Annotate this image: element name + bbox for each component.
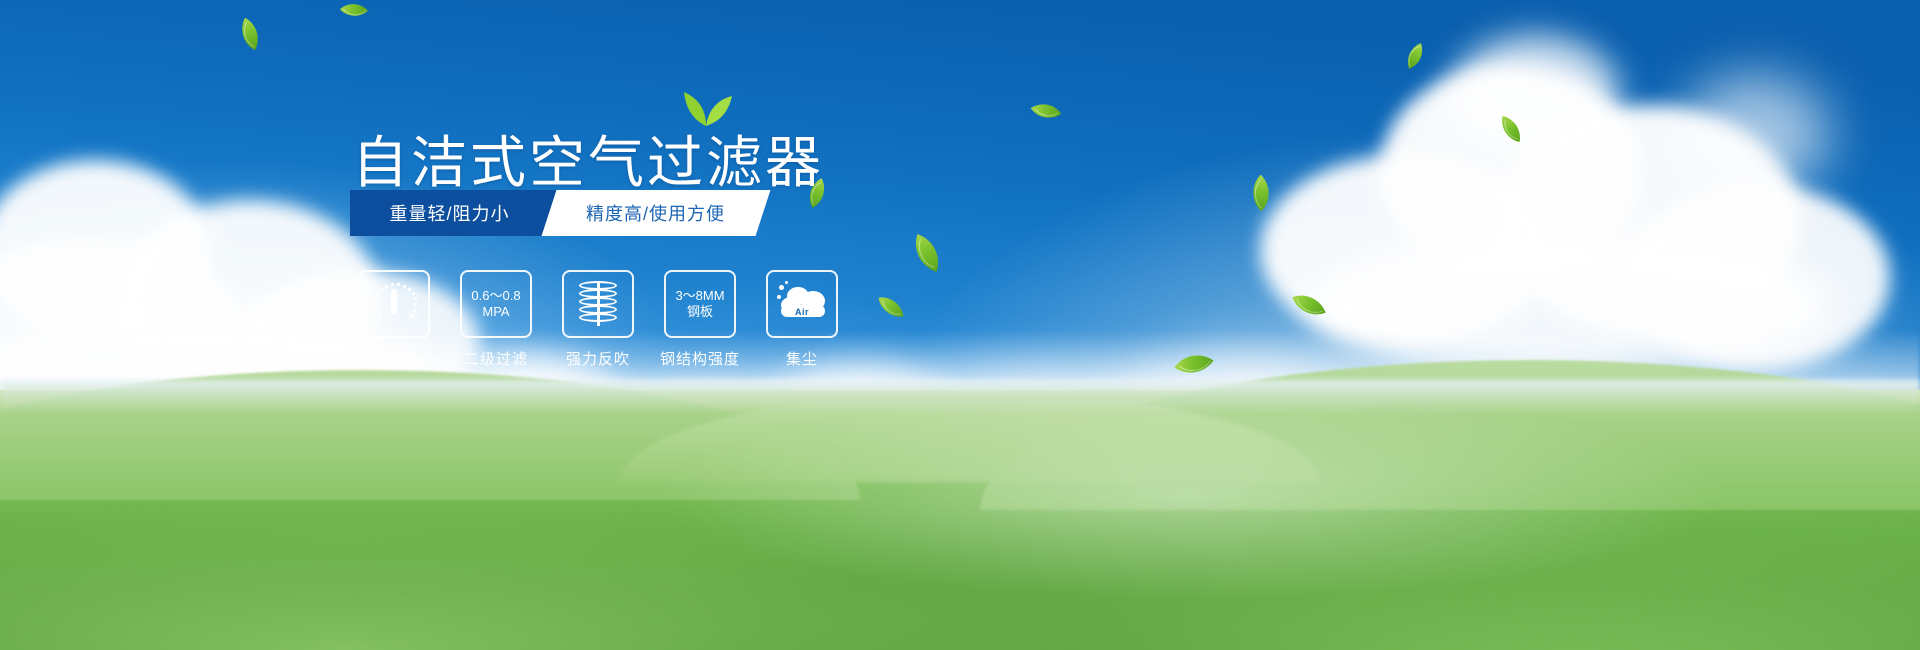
feature-item-blowback[interactable]: 强力反吹	[562, 270, 634, 369]
feature-box-pressure: 0.6～0.8 MPA	[460, 270, 532, 338]
feature-item-controller[interactable]: NO OFF 控制仪	[358, 270, 430, 369]
thickness-material: 钢板	[687, 304, 713, 320]
feature-tabs: 重量轻/阻力小 精度高/使用方便	[350, 190, 763, 236]
gauge-min-label: NO	[369, 311, 377, 317]
feature-item-filtration[interactable]: 0.6～0.8 MPA 二级过滤	[460, 270, 532, 369]
feature-item-steel-strength[interactable]: 3～8MM 钢板 钢结构强度	[664, 270, 736, 369]
page-title: 自洁式空气过滤器	[352, 118, 824, 199]
feature-item-dust-collection[interactable]: Air 集尘	[766, 270, 838, 369]
feature-box-blowback	[562, 270, 634, 338]
tab-weight-resistance[interactable]: 重量轻/阻力小	[350, 190, 549, 236]
pressure-unit: MPA	[482, 304, 509, 320]
feature-icon-row: NO OFF 控制仪 0.6～0.8 MPA 二级过滤	[358, 270, 838, 369]
thickness-value: 3～8MM	[675, 288, 724, 304]
coil-icon	[576, 280, 620, 328]
gauge-max-label: OFF	[409, 315, 419, 321]
feature-box-dust: Air	[766, 270, 838, 338]
feature-label-steel-strength: 钢结构强度	[660, 348, 740, 369]
banner-content: 自洁式空气过滤器 重量轻/阻力小 精度高/使用方便	[0, 0, 1920, 650]
promo-banner: 自洁式空气过滤器 重量轻/阻力小 精度高/使用方便	[0, 0, 1920, 650]
air-cloud-icon: Air	[777, 283, 827, 325]
gauge-icon: NO OFF	[369, 281, 419, 327]
feature-label-filtration: 二级过滤	[464, 348, 528, 369]
air-label: Air	[777, 307, 827, 318]
pressure-value: 0.6～0.8	[471, 288, 520, 304]
feature-box-controller: NO OFF	[358, 270, 430, 338]
tab-precision-convenience-label: 精度高/使用方便	[586, 200, 725, 226]
sprout-icon	[676, 88, 736, 126]
feature-box-thickness: 3～8MM 钢板	[664, 270, 736, 338]
feature-label-blowback: 强力反吹	[566, 348, 630, 369]
feature-label-dust-collection: 集尘	[786, 348, 818, 369]
tab-precision-convenience[interactable]: 精度高/使用方便	[542, 190, 771, 236]
feature-label-controller: 控制仪	[370, 348, 418, 369]
